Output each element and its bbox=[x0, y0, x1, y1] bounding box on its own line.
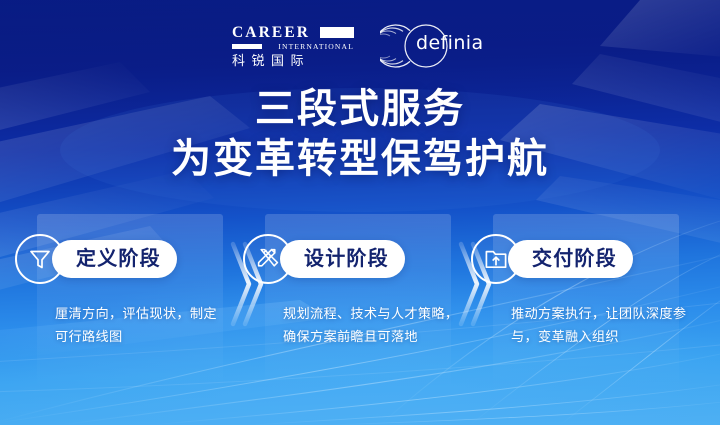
headline-line-2: 为变革转型保驾护航 bbox=[0, 138, 720, 181]
funnel-icon bbox=[15, 234, 65, 284]
career-wordmark: CAREER bbox=[232, 25, 310, 41]
career-international-wordmark: INTERNATIONAL bbox=[278, 43, 354, 51]
stage-card-title-pill: 交付阶段 bbox=[508, 240, 633, 278]
career-logo-block-icon bbox=[320, 27, 354, 38]
stage-card-description: 推动方案执行，让团队深度参与，变革融入组织 bbox=[511, 302, 699, 348]
career-logo-bar-icon bbox=[232, 44, 262, 49]
stage-card-header: 交付阶段 bbox=[471, 239, 633, 279]
pencil-ruler-icon bbox=[243, 234, 293, 284]
definia-wordmark: definia bbox=[416, 34, 483, 53]
logo-bar: CAREER INTERNATIONAL 科锐国际 definia bbox=[0, 22, 720, 70]
headline-line-1: 三段式服务 bbox=[0, 88, 720, 131]
career-international-logo: CAREER INTERNATIONAL 科锐国际 bbox=[232, 25, 354, 68]
headline: 三段式服务 为变革转型保驾护航 bbox=[0, 88, 720, 181]
stage-card-deliver[interactable]: 交付阶段 推动方案执行，让团队深度参与，变革融入组织 bbox=[493, 214, 679, 389]
stage-card-title-pill: 设计阶段 bbox=[280, 240, 405, 278]
stage-card-define[interactable]: 定义阶段 厘清方向，评估现状，制定可行路线图 bbox=[37, 214, 223, 389]
stage-card-description: 厘清方向，评估现状，制定可行路线图 bbox=[55, 302, 225, 348]
career-logo-row-primary: CAREER bbox=[232, 25, 354, 41]
stage-card-title-pill: 定义阶段 bbox=[52, 240, 177, 278]
folder-upload-icon bbox=[471, 234, 521, 284]
stage-card-title: 交付阶段 bbox=[532, 249, 617, 269]
stage-card-design[interactable]: 设计阶段 规划流程、技术与人才策略，确保方案前瞻且可落地 bbox=[265, 214, 451, 389]
definia-logo: definia bbox=[380, 23, 488, 69]
career-logo-chinese-name: 科锐国际 bbox=[232, 54, 354, 67]
career-logo-row-secondary: INTERNATIONAL bbox=[232, 43, 354, 51]
stage-card-description: 规划流程、技术与人才策略，确保方案前瞻且可落地 bbox=[283, 302, 461, 348]
promo-banner: CAREER INTERNATIONAL 科锐国际 definia bbox=[0, 0, 720, 425]
stage-card-header: 设计阶段 bbox=[243, 239, 405, 279]
stage-cards: 定义阶段 厘清方向，评估现状，制定可行路线图 bbox=[0, 214, 720, 389]
stage-card-title: 设计阶段 bbox=[304, 249, 389, 269]
stage-card-header: 定义阶段 bbox=[15, 239, 177, 279]
stage-card-title: 定义阶段 bbox=[76, 249, 161, 269]
